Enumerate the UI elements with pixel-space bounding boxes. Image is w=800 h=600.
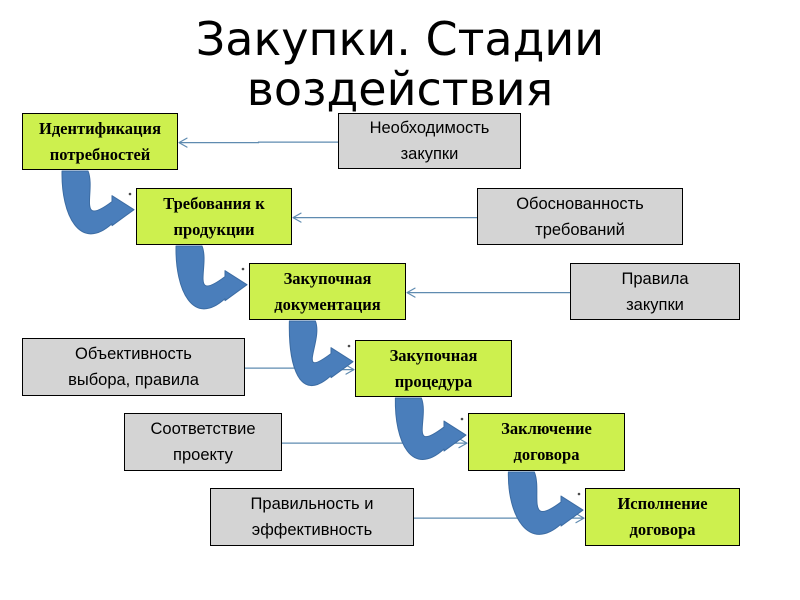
input-correctness[interactable]: Правильность и эффективность — [210, 488, 414, 546]
flow-documentation-to-procedure-dot — [348, 345, 351, 348]
input-project-compliance[interactable]: Соответствие проекту — [124, 413, 282, 471]
flow-signing-to-execution-dot — [578, 493, 581, 496]
input-requirements-basis[interactable]: Обоснованность требований — [477, 188, 683, 245]
stage-requirements[interactable]: Требования к продукции — [136, 188, 292, 245]
stage-contract-signing[interactable]: Заключение договора — [468, 413, 625, 471]
flow-procedure-to-signing — [395, 398, 466, 459]
flow-requirements-to-documentation — [176, 246, 247, 309]
flow-signing-to-execution — [508, 472, 583, 534]
flow-identification-to-requirements — [62, 171, 134, 234]
input-purchase-need[interactable]: Необходимость закупки — [338, 113, 521, 169]
flow-requirements-to-documentation-dot — [242, 268, 245, 271]
slide-canvas: Закупки. Стадии воздействия Идентификаци… — [0, 0, 800, 600]
stage-contract-exec[interactable]: Исполнение договора — [585, 488, 740, 546]
stage-identification[interactable]: Идентификация потребностей — [22, 113, 178, 170]
flow-identification-to-requirements-dot — [129, 193, 132, 196]
stage-documentation[interactable]: Закупочная документация — [249, 263, 406, 320]
stage-procedure[interactable]: Закупочная процедура — [355, 340, 512, 397]
flow-documentation-to-procedure — [289, 321, 353, 386]
input-purchase-rules[interactable]: Правила закупки — [570, 263, 740, 320]
flow-procedure-to-signing-dot — [461, 418, 464, 421]
input-objectivity[interactable]: Объективность выбора, правила — [22, 338, 245, 396]
